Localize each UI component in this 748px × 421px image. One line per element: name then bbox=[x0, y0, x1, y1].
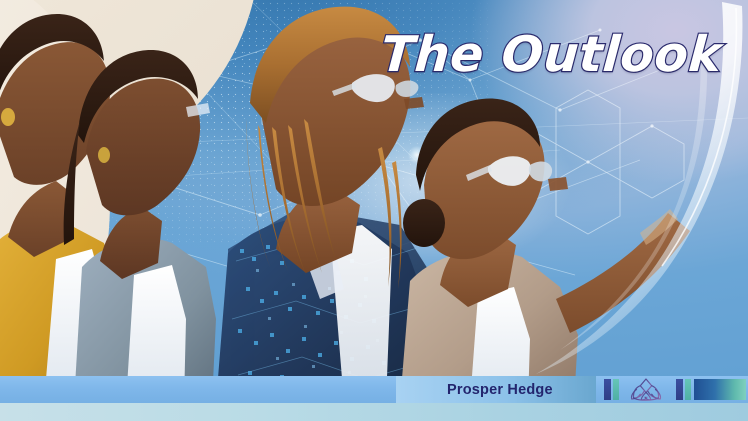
bar-segment-navy-1 bbox=[604, 379, 611, 400]
bar-rect-gradient bbox=[694, 379, 746, 400]
page-title: The Outlook bbox=[379, 26, 724, 83]
hair-bun bbox=[403, 199, 445, 247]
figure-woman-2 bbox=[64, 50, 216, 403]
brand-name: Prosper Hedge bbox=[447, 376, 553, 403]
figure-woman-4 bbox=[400, 99, 690, 403]
bar-segment-teal-1 bbox=[613, 379, 619, 400]
poster-canvas: The Outlook Prosper Hedge bbox=[0, 0, 748, 421]
bar-segment-navy-2 bbox=[676, 379, 683, 400]
bar-segment-teal-2 bbox=[685, 379, 691, 400]
lotus-icon bbox=[627, 377, 665, 402]
bottom-banner-content: Prosper Hedge bbox=[0, 376, 748, 403]
footer-strip bbox=[0, 403, 748, 421]
